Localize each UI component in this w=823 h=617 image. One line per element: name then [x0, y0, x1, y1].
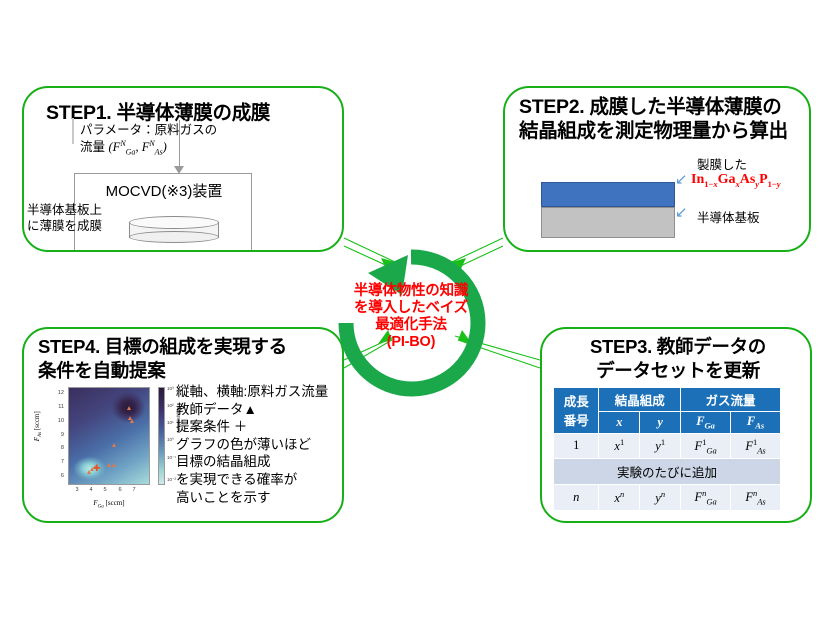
substrate-callout-arrow-icon: ↙	[675, 205, 688, 220]
thin-film-layer	[541, 182, 675, 207]
substrate-layer	[541, 207, 675, 238]
step3-panel: STEP3. 教師データのデータセットを更新 成長番号 結晶組成 ガス流量 x …	[540, 327, 812, 523]
cell-growth-number: 1	[554, 433, 599, 459]
step1-substrate-note: 半導体基板上に薄膜を成膜	[27, 202, 122, 235]
col-header-x: x	[599, 412, 640, 434]
x-tick: 3	[72, 487, 82, 493]
step4-title: STEP4. 目標の組成を実現する条件を自動提案	[38, 335, 338, 383]
cycle-line: 半導体物性の知識	[354, 283, 468, 299]
step2-panel: STEP2. 成膜した半導体薄膜の結晶組成を測定物理量から算出 製膜した ↙ ↙…	[503, 86, 811, 252]
step4-panel: STEP4. 目標の組成を実現する条件を自動提案 ✚ 12 11 10 9 8 …	[22, 327, 344, 523]
training-dataset-table: 成長番号 結晶組成 ガス流量 x y FGa FAs 1 x1 y1 F1Ga	[553, 387, 781, 511]
step2-title: STEP2. 成膜した半導体薄膜の結晶組成を測定物理量から算出	[519, 95, 811, 144]
proposed-condition-marker: ✚	[93, 464, 101, 473]
y-tick: 8	[50, 445, 64, 451]
cell-x: x1	[599, 433, 640, 459]
y-tick: 6	[50, 473, 64, 479]
cell-f-ga: F1Ga	[681, 433, 731, 459]
step1-panel: STEP1. 半導体薄膜の成膜 パラメータ：原料ガスの 流量 (FNGa, FN…	[22, 86, 344, 252]
layer-stack-diagram	[541, 182, 675, 238]
acquisition-heatmap-figure: ✚ 12 11 10 9 8 7 6 3 4 5 6 7 FGa [sccm] …	[30, 383, 178, 517]
deposited-label: 製膜した	[697, 154, 807, 173]
x-axis-label: FGa [sccm]	[68, 499, 150, 509]
y-tick: 11	[50, 404, 64, 410]
teacher-data-marker	[107, 463, 111, 467]
col-header-growth-number: 成長番号	[554, 388, 599, 434]
col-header-f-ga: FGa	[681, 412, 731, 434]
teacher-data-marker	[112, 443, 116, 447]
annotation-line: 教師データ▲	[176, 402, 257, 417]
colorbar	[158, 387, 165, 485]
note-label: 実験のたびに追加	[554, 459, 781, 485]
cell-growth-number: n	[554, 485, 599, 511]
x-tick: 6	[115, 487, 125, 493]
y-tick: 9	[50, 432, 64, 438]
cell-f-as: F1As	[731, 433, 781, 459]
colorbar-tick: 10⁻¹	[167, 455, 176, 461]
cell-x: xn	[599, 485, 640, 511]
substrate-label: 半導体基板	[697, 207, 760, 226]
step3-title: STEP3. 教師データのデータセットを更新	[552, 335, 804, 383]
annotation-line: 高いことを示す	[176, 490, 271, 505]
col-group-crystal-composition: 結晶組成	[599, 388, 681, 412]
y-tick: 12	[50, 390, 64, 396]
x-tick: 4	[86, 487, 96, 493]
table-row-note: 実験のたびに追加	[554, 459, 781, 485]
annotation-line: 縦軸、横軸:原料ガス流量	[176, 384, 328, 399]
teacher-data-marker	[127, 406, 131, 410]
annotation-line: 提案条件 ＋	[176, 419, 247, 434]
col-header-y: y	[640, 412, 681, 434]
cell-y: yn	[640, 485, 681, 511]
cell-y: y1	[640, 433, 681, 459]
x-tick: 5	[100, 487, 110, 493]
table-row: 1 x1 y1 F1Ga F1As	[554, 433, 781, 459]
parameter-tick	[72, 118, 74, 144]
cell-f-ga: FnGa	[681, 485, 731, 511]
susceptor-cylinder	[129, 216, 219, 242]
cycle-line: (PI-BO)	[387, 334, 436, 350]
mocvd-device-label: MOCVD(※3)装置	[84, 180, 244, 201]
flow-formula: (FNGa, FNAs)	[109, 140, 167, 154]
teacher-data-marker	[130, 419, 134, 423]
col-group-gas-flow: ガス流量	[681, 388, 781, 412]
y-axis-label: FAs [sccm]	[33, 396, 43, 456]
pi-bo-label: 半導体物性の知識 を導入したベイズ 最適化手法 (PI-BO)	[338, 283, 484, 351]
cycle-line: を導入したベイズ	[354, 300, 468, 316]
colorbar-tick: 10²	[167, 403, 174, 408]
col-header-f-as: FAs	[731, 412, 781, 434]
y-tick: 7	[50, 459, 64, 465]
cycle-line: 最適化手法	[375, 317, 447, 333]
table-row: n xn yn FnGa FnAs	[554, 485, 781, 511]
pi-bo-cycle: 半導体物性の知識 を導入したベイズ 最適化手法 (PI-BO)	[316, 239, 506, 409]
annotation-line: を実現できる確率が	[176, 472, 297, 487]
step1-title: STEP1. 半導体薄膜の成膜	[46, 96, 270, 125]
teacher-data-marker	[87, 470, 91, 474]
film-composition-formula: In1−xGaxAsyP1−y	[691, 172, 781, 189]
y-tick: 10	[50, 418, 64, 424]
parameter-text: パラメータ：原料ガスの	[80, 123, 217, 137]
parameter-flow-text: 流量	[80, 140, 105, 154]
colorbar-tick: 10⁻²	[167, 477, 176, 483]
film-callout-arrow-icon: ↙	[675, 172, 688, 187]
step1-parameter-label: パラメータ：原料ガスの 流量 (FNGa, FNAs)	[80, 122, 270, 158]
colorbar-tick: 10¹	[167, 420, 174, 425]
heatmap-plot-area: ✚	[68, 387, 150, 485]
annotation-line: グラフの色が薄いほど	[176, 437, 311, 452]
annotation-line: 目標の結晶組成	[176, 454, 271, 469]
colorbar-tick: 10⁰	[167, 437, 174, 443]
cell-f-as: FnAs	[731, 485, 781, 511]
x-tick: 7	[129, 487, 139, 493]
gas-flow-arrow-line	[179, 120, 180, 168]
teacher-data-marker	[112, 463, 116, 467]
colorbar-tick: 10³	[167, 386, 174, 391]
